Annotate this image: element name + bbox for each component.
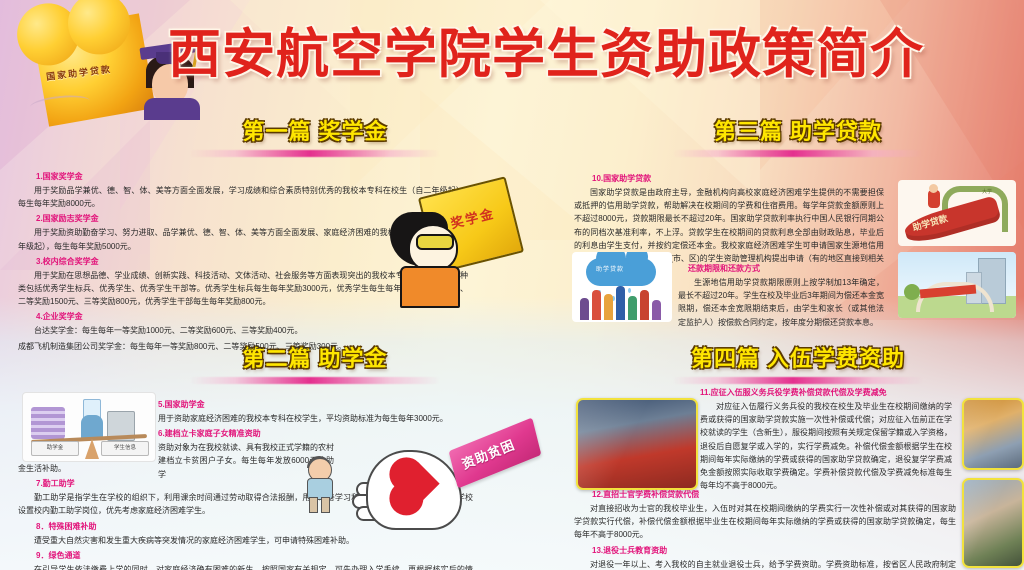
poster-root: 国家助学贷款 西安航空学院学生资助政策简介 第一篇 奖学金 第三篇 助学贷款 第… [0,0,1024,570]
item-title-4: 4.企业奖学金 [36,310,468,323]
item-title-11: 11.应征入伍服义务兵役学费补偿贷款代偿及学费减免 [700,386,952,399]
section-4-title: 第四篇 入伍学费资助 [648,345,948,373]
scale-balance-icon: 助学金 学生信息 [22,392,156,462]
section-3-heading: 第三篇 助学贷款 [648,118,948,157]
section-1-title: 第一篇 奖学金 [165,118,465,146]
section-4-rule [673,377,923,384]
repayment-body: 生源地信用助学贷款期限原则上按学制加13年确定，最长不超过20年。学生在校及毕业… [678,276,884,329]
hand-with-heart-icon: 资助贫困 [300,428,535,564]
repayment-heading: 还款期限和还款方式 [688,262,884,275]
item-title-5: 5.国家助学金 [158,398,468,411]
section-4-content-bottom: 12.直招士官学费补偿贷款代偿 对直接招收为士官的我校毕业生，入伍时对其在校期间… [574,488,956,570]
cloud-and-hands-icon: 助学贷款 [572,252,672,322]
item-title-10: 10.国家助学贷款 [592,172,884,185]
bridge-to-university-icon: 大学 助学贷款 [898,180,1016,246]
item-body-4a: 台达奖学金：每生每年一等奖励1000元、二等奖励600元、三等奖励400元。 [18,324,468,337]
section-1-rule [190,150,440,157]
item-body-4b: 成都飞机制造集团公司奖学金：每生每年一等奖励800元、二等奖励500元、三等奖励… [18,340,468,353]
item-title-1: 1.国家奖学金 [36,170,468,183]
item-body-12: 对直接招收为士官的我校毕业生，入伍时对其在校期间缴纳的学费实行一次性补偿或对其获… [574,502,956,542]
section-1-heading: 第一篇 奖学金 [165,118,465,157]
section-2-rule [190,377,440,384]
gate-label: 大学 [982,188,992,195]
cloud-label: 助学贷款 [596,264,624,273]
child-figure-icon [306,458,332,506]
photo-ceremony [576,398,698,490]
mascot-with-book-icon: 奖学金 [390,186,520,304]
poster-header: 国家助学贷款 西安航空学院学生资助政策简介 [0,0,1024,112]
section-4-content-top: 11.应征入伍服义务兵役学费补偿贷款代偿及学费减免 对应征入伍履行义务兵役的我校… [700,386,952,494]
section-3-repayment: 还款期限和还款方式 生源地信用助学贷款期限原则上按学制加13年确定，最长不超过2… [678,262,884,331]
photo-students-booth [962,398,1024,470]
item-body-5: 用于资助家庭经济困难的我校本专科在校学生，平均资助标准为每生每年3000元。 [158,412,468,425]
section-4-heading: 第四篇 入伍学费资助 [648,345,948,384]
section-3-title: 第三篇 助学贷款 [648,118,948,146]
photo-enrollment [962,478,1024,568]
item-title-13: 13.退役士兵教育资助 [592,544,956,557]
scale-right-label: 学生信息 [101,441,149,456]
section-3-rule [673,150,923,157]
item-body-13: 对退役一年以上、考入我校的自主就业退役士兵，给予学费资助。学费资助标准，按省区人… [574,558,956,570]
city-bridge-icon [898,252,1016,318]
item-body-11: 对应征入伍履行义务兵役的我校在校生及毕业生在校期间缴纳的学费或获得的国家助学贷款… [700,400,952,492]
page-title: 西安航空学院学生资助政策简介 [168,24,1014,86]
scale-left-label: 助学金 [31,441,79,456]
item-title-12: 12.直招士官学费补偿贷款代偿 [592,488,956,501]
